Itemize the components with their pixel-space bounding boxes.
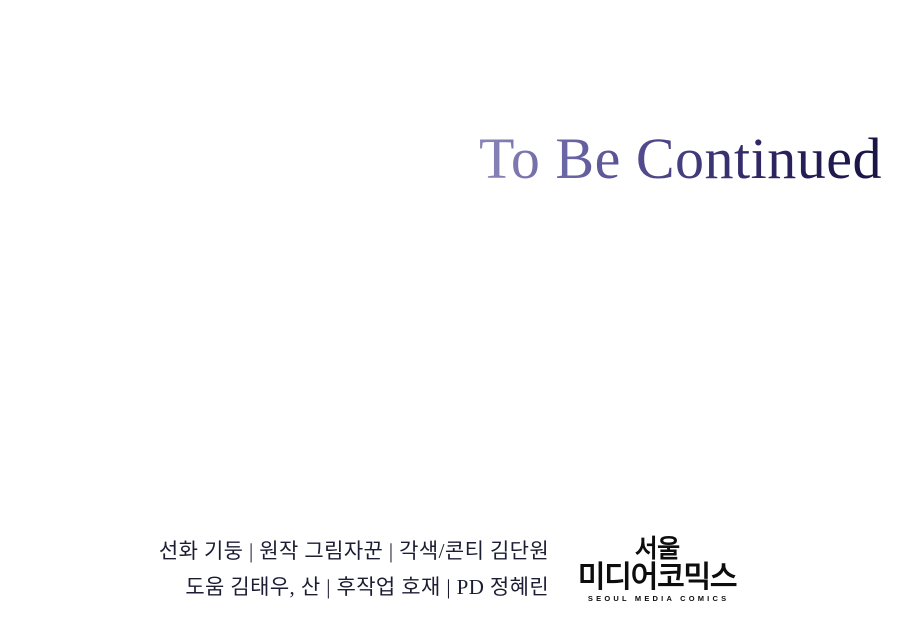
footer: 선화 기둥 | 원작 그림자꾼 | 각색/콘티 김단원 도움 김태우, 산 | … <box>0 523 900 615</box>
credit-line-1: 선화 기둥 | 원작 그림자꾼 | 각색/콘티 김단원 <box>159 533 549 569</box>
publisher-logo-line-2: 미디어코믹스 <box>578 562 736 593</box>
page-title: To Be Continued <box>479 130 882 188</box>
to-be-continued-title: To Be Continued <box>0 119 882 199</box>
credits-block: 선화 기둥 | 원작 그림자꾼 | 각색/콘티 김단원 도움 김태우, 산 | … <box>159 533 549 605</box>
comic-end-page: To Be Continued 선화 기둥 | 원작 그림자꾼 | 각색/콘티 … <box>0 0 900 639</box>
publisher-logo: 서울 미디어코믹스 SEOUL MEDIA COMICS <box>573 536 741 604</box>
credit-line-2: 도움 김태우, 산 | 후작업 호재 | PD 정혜린 <box>185 569 549 605</box>
publisher-logo-line-1: 서울 <box>635 536 680 562</box>
publisher-logo-subtitle: SEOUL MEDIA COMICS <box>585 594 729 604</box>
